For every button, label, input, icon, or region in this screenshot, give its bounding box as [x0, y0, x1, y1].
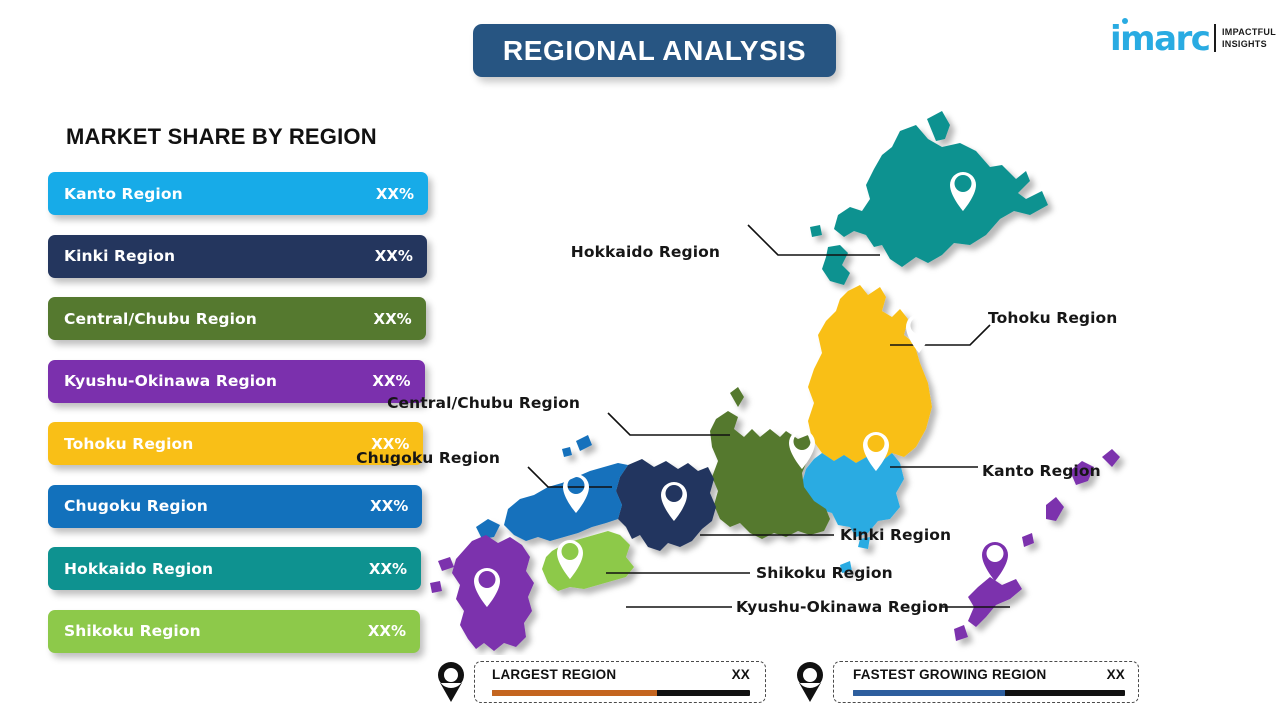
market-share-bar-label: Kyushu-Okinawa Region [64, 372, 277, 390]
map-label-kinki: Kinki Region [840, 526, 951, 544]
largest-region-progress-fill [492, 690, 657, 696]
market-share-bar-label: Central/Chubu Region [64, 310, 257, 328]
largest-region-progress-track [492, 690, 750, 696]
market-share-bar[interactable]: Kinki RegionXX% [48, 235, 427, 278]
map-region-chugoku[interactable] [476, 463, 628, 541]
market-share-bar-label: Tohoku Region [64, 435, 193, 453]
largest-region-legend[interactable]: LARGEST REGION XX [436, 661, 766, 705]
market-share-bar-label: Shikoku Region [64, 622, 201, 640]
pin-okinawa-icon [982, 542, 1008, 581]
page-title-banner: REGIONAL ANALYSIS [473, 24, 836, 77]
logo-tagline-line1: IMPACTFUL [1222, 27, 1276, 37]
largest-region-title: LARGEST REGION [492, 667, 616, 682]
map-pin-okinawa [982, 542, 1008, 581]
fastest-growing-region-value: XX [1107, 667, 1125, 682]
market-share-bar-value: XX% [370, 497, 408, 515]
fastest-growing-region-progress-fill [853, 690, 1005, 696]
market-share-bar-value: XX% [374, 310, 412, 328]
market-share-bar-value: XX% [376, 185, 414, 203]
market-share-bar-label: Hokkaido Region [64, 560, 213, 578]
market-share-bar[interactable]: Kanto RegionXX% [48, 172, 428, 215]
logo-divider [1214, 24, 1216, 52]
map-label-tohoku: Tohoku Region [988, 309, 1117, 327]
market-share-bar-value: XX% [368, 622, 406, 640]
market-share-bar[interactable]: Chugoku RegionXX% [48, 485, 422, 528]
map-label-shikoku: Shikoku Region [756, 564, 893, 582]
market-share-bar-value: XX% [372, 372, 410, 390]
fastest-growing-region-title: FASTEST GROWING REGION [853, 667, 1046, 682]
map-region-hokkaido[interactable] [810, 111, 1048, 285]
map-label-chugoku: Chugoku Region [356, 449, 500, 467]
slide-canvas: REGIONAL ANALYSIS imarc IMPACTFUL INSIGH… [0, 0, 1280, 720]
market-share-bar[interactable]: Central/Chubu RegionXX% [48, 297, 426, 340]
largest-region-value: XX [732, 667, 750, 682]
map-region-shikoku[interactable] [542, 531, 634, 591]
page-title: REGIONAL ANALYSIS [503, 37, 806, 65]
japan-regional-map: Hokkaido Region Tohoku Region Central/Ch… [430, 95, 1150, 655]
market-share-bar-value: XX% [369, 560, 407, 578]
market-share-bar[interactable]: Shikoku RegionXX% [48, 610, 420, 653]
map-label-kyushu-okinawa: Kyushu-Okinawa Region [736, 598, 949, 616]
map-label-hokkaido: Hokkaido Region [571, 243, 720, 261]
map-label-kanto: Kanto Region [982, 462, 1101, 480]
map-label-central-chubu: Central/Chubu Region [387, 394, 580, 412]
imarc-logo: imarc IMPACTFUL INSIGHTS [1110, 16, 1270, 60]
fastest-growing-region-pin-icon [795, 661, 825, 703]
panel-heading: MARKET SHARE BY REGION [66, 124, 377, 150]
fastest-growing-region-progress-track [853, 690, 1125, 696]
logo-tagline: IMPACTFUL INSIGHTS [1222, 26, 1276, 50]
market-share-bar-label: Chugoku Region [64, 497, 208, 515]
market-share-bar-label: Kinki Region [64, 247, 175, 265]
market-share-bar-label: Kanto Region [64, 185, 183, 203]
market-share-bar[interactable]: Kyushu-Okinawa RegionXX% [48, 360, 425, 403]
largest-region-pin-icon [436, 661, 466, 703]
fastest-growing-region-legend[interactable]: FASTEST GROWING REGION XX [795, 661, 1140, 705]
market-share-bar-value: XX% [375, 247, 413, 265]
logo-tagline-line2: INSIGHTS [1222, 39, 1267, 49]
logo-wordmark: imarc [1110, 22, 1209, 56]
market-share-bar[interactable]: Hokkaido RegionXX% [48, 547, 421, 590]
